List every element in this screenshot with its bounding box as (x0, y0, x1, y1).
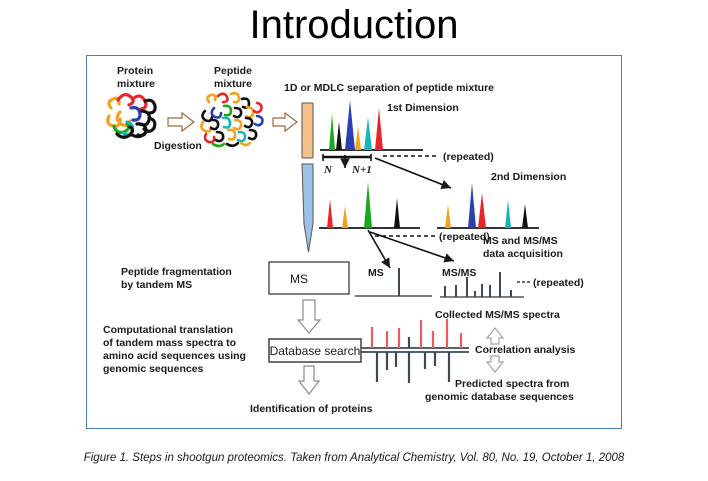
separation-label: 1D or MDLC separation of peptide mixture (284, 82, 494, 94)
protein-mixture-label-line1: Protein (117, 65, 153, 77)
figure-frame: Protein mixture Peptide mixture 1D or MD… (86, 55, 622, 429)
first-dimension-label: 1st Dimension (387, 102, 459, 114)
repeated-3-label: (repeated) (533, 277, 584, 289)
predicted-spectra-label-line2: genomic database sequences (425, 391, 574, 403)
first-dimension-column (302, 103, 313, 158)
comp-trans-label-line1: Computational translation (103, 324, 233, 336)
slide-canvas: Introduction Protein mixture Peptide mix… (0, 0, 708, 481)
repeated-1-label: (repeated) (443, 151, 494, 163)
msms-spectrum-label: MS/MS (442, 267, 476, 279)
peptide-mixture-label-line1: Peptide (214, 65, 252, 77)
second-dimension-spectrum-right (437, 183, 539, 228)
digestion-label: Digestion (154, 140, 202, 152)
peptide-frag-label-line1: Peptide fragmentation (121, 266, 232, 278)
peptide-frag-label-line2: by tandem MS (121, 279, 192, 291)
ms-box[interactable] (269, 262, 349, 294)
workflow-diagram: Protein mixture Peptide mixture 1D or MD… (87, 56, 620, 427)
correlation-mirror-plot (361, 319, 469, 383)
page-title: Introduction (0, 2, 708, 48)
peptide-mixture-label-line2: mixture (214, 78, 252, 90)
fraction-n-plus-1-label: N+1 (351, 164, 372, 176)
database-to-identification-arrow-icon (299, 366, 319, 394)
ms-box-label: MS (290, 272, 308, 286)
figure-caption: Figure 1. Steps in shootgun proteomics. … (0, 452, 708, 464)
peptide-mixture-blob (201, 93, 262, 146)
comp-trans-label-line3: amino acid sequences using (103, 350, 246, 362)
protein-mixture-blob (108, 95, 155, 138)
bracket-to-second-dim-arrow (375, 158, 451, 188)
ms-to-database-arrow-icon (298, 300, 320, 333)
second-dimension-spectrum-left (319, 182, 420, 228)
correlation-analysis-label: Correlation analysis (475, 344, 576, 356)
second-dimension-label: 2nd Dimension (491, 171, 566, 183)
protein-mixture-label-line2: mixture (117, 78, 155, 90)
predicted-spectra-label-line1: Predicted spectra from (455, 378, 569, 390)
ms-msms-acq-label-line2: data acquisition (483, 248, 563, 260)
comp-trans-label-line4: genomic sequences (103, 363, 204, 375)
fraction-n-label: N (323, 164, 333, 176)
ms-msms-acq-label-line1: MS and MS/MS (483, 235, 558, 247)
ms-spectrum (355, 268, 432, 296)
identification-label: Identification of proteins (250, 403, 373, 415)
second-dimension-column (302, 164, 313, 252)
digestion-arrow-icon (168, 113, 194, 131)
comp-trans-label-line2: of tandem mass spectra to (103, 337, 236, 349)
ms-spectrum-label: MS (368, 267, 384, 279)
load-arrow-icon (273, 113, 297, 131)
database-search-box-label: Database search (270, 344, 361, 358)
collected-spectra-label: Collected MS/MS spectra (435, 309, 560, 321)
